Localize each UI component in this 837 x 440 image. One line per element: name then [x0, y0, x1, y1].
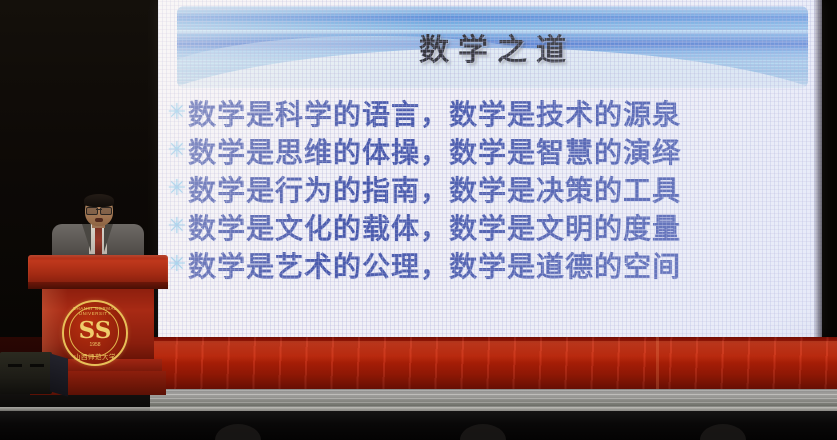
slide-bullet-list: ✳ 数学是科学的语言，数学是技术的源泉 ✳ 数学是思维的体操，数学是智慧的演绎 … — [166, 94, 818, 284]
slide-content: 数学之道 ✳ 数学是科学的语言，数学是技术的源泉 ✳ 数学是思维的体操，数学是智… — [158, 0, 822, 338]
speaker-figure — [52, 196, 144, 262]
list-item: ✳ 数学是思维的体操，数学是智慧的演绎 — [166, 132, 818, 169]
university-emblem: SHANXI NORMAL UNIVERSITY SS 1958 山西师范大学 — [62, 300, 128, 366]
list-item: ✳ 数学是文化的载体，数学是文明的度量 — [166, 208, 818, 245]
glasses-lens-right — [100, 207, 112, 215]
asterisk-bullet-icon: ✳ — [166, 140, 188, 162]
asterisk-bullet-icon: ✳ — [166, 102, 188, 124]
slide-title: 数学之道 — [177, 6, 808, 88]
skirt-sheen — [150, 341, 837, 363]
speaker-lapel-right — [104, 224, 113, 252]
asterisk-bullet-icon: ✳ — [166, 216, 188, 238]
presentation-photo-scene: 数学之道 ✳ 数学是科学的语言，数学是技术的源泉 ✳ 数学是思维的体操，数学是智… — [0, 0, 837, 440]
speaker-mouth — [95, 218, 103, 222]
emblem-monogram: SS — [64, 319, 126, 342]
slide-title-banner: 数学之道 — [177, 6, 808, 88]
list-item-label: 数学是艺术的公理，数学是道德的空间 — [188, 245, 681, 285]
skirt-seam — [656, 337, 659, 391]
list-item: ✳ 数学是科学的语言，数学是技术的源泉 — [166, 94, 818, 131]
list-item-label: 数学是思维的体操，数学是智慧的演绎 — [188, 131, 681, 171]
emblem-arc-text: SHANXI NORMAL UNIVERSITY — [64, 306, 126, 316]
monitor-vent-slot — [30, 364, 44, 367]
projection-screen: 数学之道 ✳ 数学是科学的语言，数学是技术的源泉 ✳ 数学是思维的体操，数学是智… — [158, 0, 822, 338]
podium-top-lip — [28, 282, 168, 289]
stage-monitor-box — [0, 352, 52, 394]
emblem-chinese-name: 山西师范大学 — [64, 351, 126, 361]
list-item-label: 数学是文化的载体，数学是文明的度量 — [188, 207, 681, 247]
monitor-vent-slot — [8, 364, 22, 367]
emblem-year: 1958 — [64, 342, 126, 348]
asterisk-bullet-icon: ✳ — [166, 178, 188, 200]
stage-red-skirt — [150, 337, 837, 391]
speaker-tie — [95, 228, 102, 258]
asterisk-bullet-icon: ✳ — [166, 254, 188, 276]
stage-monitor-side-panel — [50, 353, 68, 396]
list-item-label: 数学是科学的语言，数学是技术的源泉 — [188, 93, 681, 133]
glasses-icon — [86, 207, 112, 213]
list-item-label: 数学是行为的指南，数学是决策的工具 — [188, 169, 681, 209]
list-item: ✳ 数学是艺术的公理，数学是道德的空间 — [166, 246, 818, 283]
speaker-hair — [84, 194, 114, 207]
list-item: ✳ 数学是行为的指南，数学是决策的工具 — [166, 170, 818, 207]
speaker-lapel-left — [82, 224, 91, 252]
